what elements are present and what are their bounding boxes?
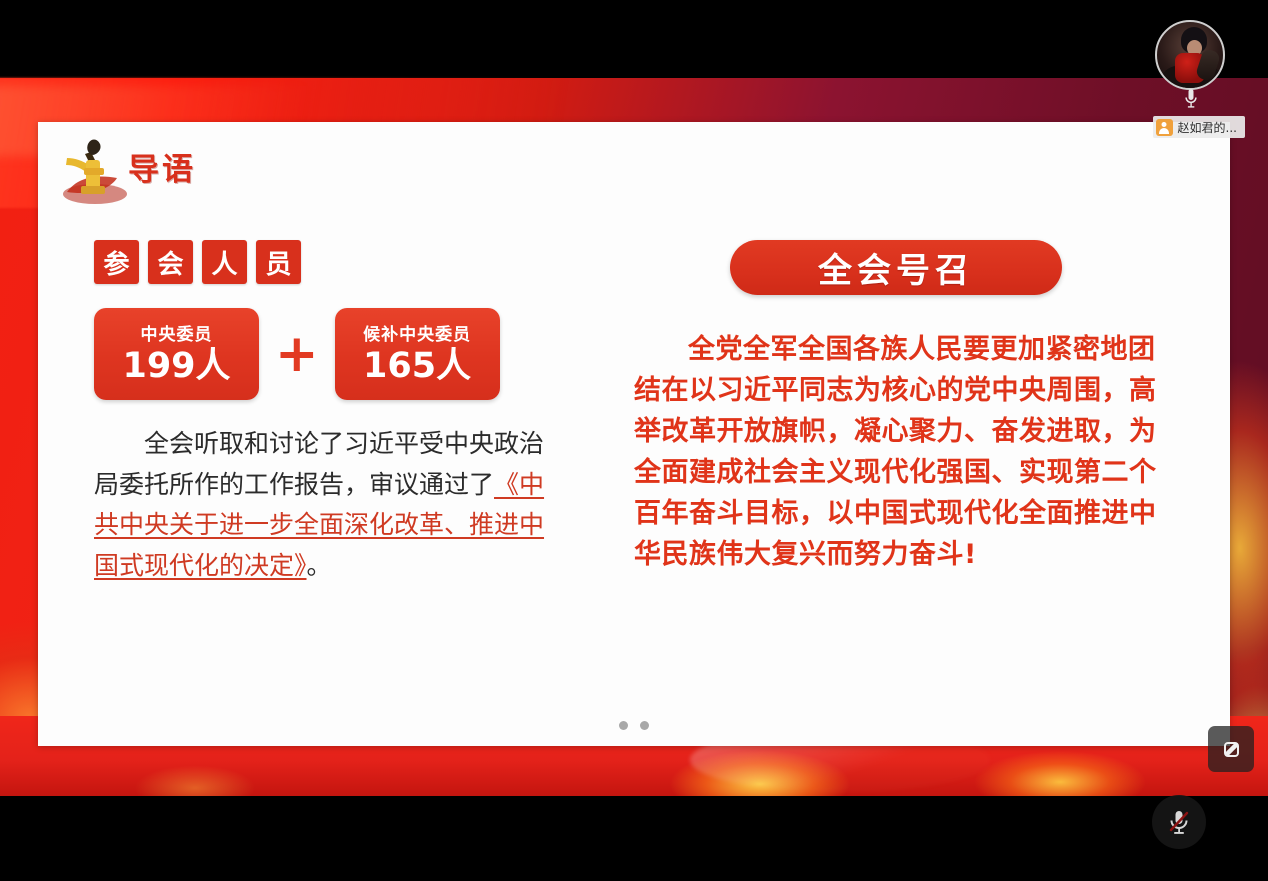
mic-toggle-button[interactable] bbox=[1152, 795, 1206, 849]
participant-video-tile[interactable]: 赵如君的... bbox=[1155, 20, 1227, 106]
participant-name: 赵如君的... bbox=[1178, 119, 1237, 136]
paragraph-lead-text: 全会听取和讨论了习近平受中央政治局委托所作的工作报告，审议通过了 bbox=[94, 429, 544, 499]
left-paragraph: 全会听取和讨论了习近平受中央政治局委托所作的工作报告，审议通过了《中共中央关于进… bbox=[94, 424, 566, 586]
stat-label: 候补中央委员 bbox=[351, 320, 484, 345]
torch-emblem-icon bbox=[55, 134, 133, 206]
section-tag: 参 bbox=[94, 240, 139, 284]
section-tag-row: 参 会 人 员 bbox=[94, 240, 614, 284]
stat-value: 199人 bbox=[110, 347, 243, 386]
plus-operator: + bbox=[275, 328, 319, 380]
call-banner: 全会号召 bbox=[730, 240, 1062, 295]
mic-icon bbox=[1185, 89, 1198, 110]
stat-card-alternate-members: 候补中央委员 165人 bbox=[335, 308, 500, 400]
avatar[interactable] bbox=[1155, 20, 1225, 90]
slide-content-card: 导语 参 会 人 员 中央委员 199人 + 候补中央委员 bbox=[38, 122, 1230, 746]
paragraph-tail-text: 。 bbox=[307, 551, 332, 580]
stat-card-central-committee: 中央委员 199人 bbox=[94, 308, 259, 400]
page-dot[interactable] bbox=[619, 721, 628, 730]
page-indicator-dots[interactable] bbox=[38, 721, 1230, 730]
screen-share-viewer: 导语 参 会 人 员 中央委员 199人 + 候补中央委员 bbox=[0, 0, 1268, 881]
page-dot[interactable] bbox=[640, 721, 649, 730]
stat-value: 165人 bbox=[351, 347, 484, 386]
mic-muted-icon bbox=[1164, 807, 1194, 837]
stat-label: 中央委员 bbox=[110, 320, 243, 345]
statistics-row: 中央委员 199人 + 候补中央委员 165人 bbox=[94, 308, 614, 400]
section-tag: 会 bbox=[148, 240, 193, 284]
slide-title: 导语 bbox=[128, 144, 196, 189]
expand-icon bbox=[1219, 737, 1243, 761]
section-tag: 员 bbox=[256, 240, 301, 284]
expand-screen-button[interactable] bbox=[1208, 726, 1254, 772]
call-paragraph: 全党全军全国各族人民要更加紧密地团结在以习近平同志为核心的党中央周围，高举改革开… bbox=[634, 329, 1174, 575]
shared-slide-surface[interactable]: 导语 参 会 人 员 中央委员 199人 + 候补中央委员 bbox=[0, 78, 1268, 796]
participant-name-chip: 赵如君的... bbox=[1153, 116, 1245, 138]
right-column: 全会号召 全党全军全国各族人民要更加紧密地团结在以习近平同志为核心的党中央周围，… bbox=[634, 240, 1194, 575]
left-column: 参 会 人 员 中央委员 199人 + 候补中央委员 165人 bbox=[94, 240, 614, 586]
user-icon bbox=[1156, 119, 1173, 136]
section-tag: 人 bbox=[202, 240, 247, 284]
